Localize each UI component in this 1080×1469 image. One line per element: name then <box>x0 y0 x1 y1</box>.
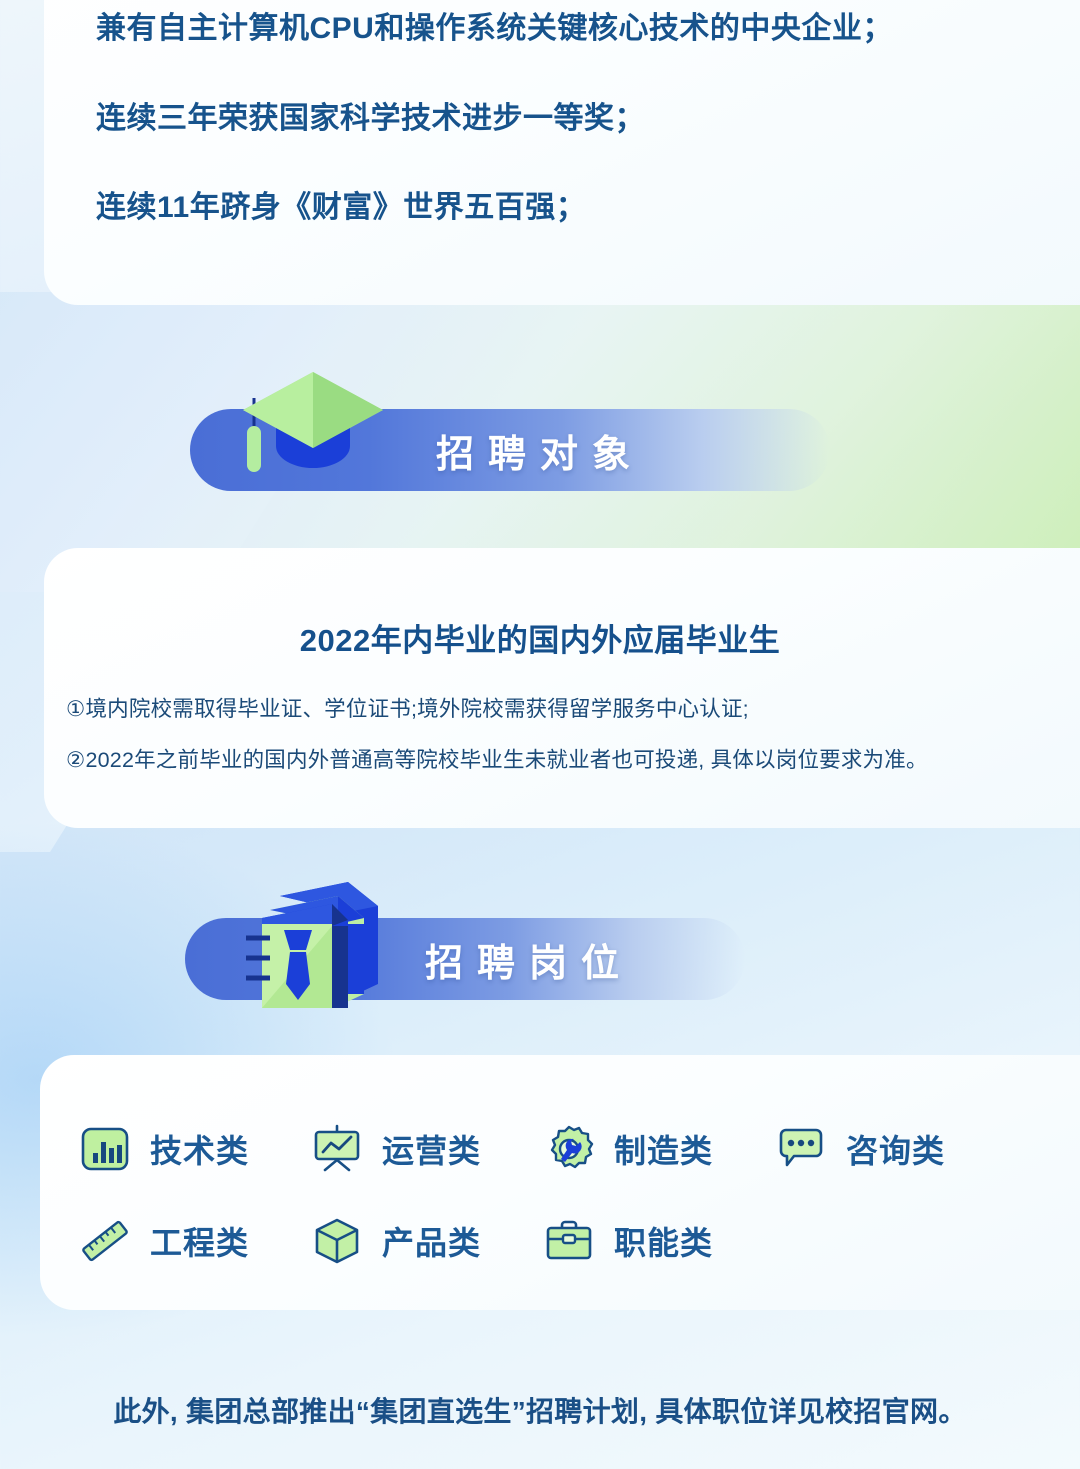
recruit-target-note: ①境内院校需取得毕业证、学位证书;境外院校需获得留学服务中心认证; <box>66 694 1026 724</box>
statement-line: 兼有自主计算机CPU和操作系统关键核心技术的中央企业； <box>96 10 1036 48</box>
job-category-label: 职能类 <box>614 1218 713 1264</box>
presentation-chart-icon <box>310 1122 364 1176</box>
job-category-functional[interactable]: 职能类 <box>542 1214 774 1268</box>
recruit-target-note: ②2022年之前毕业的国内外普通高等院校毕业生未就业者也可投递, 具体以岗位要求… <box>66 745 1026 775</box>
banner-title: 招聘岗位 <box>425 932 633 987</box>
speech-bubble-icon <box>774 1122 828 1176</box>
resume-books-icon <box>240 872 390 1012</box>
job-category-consulting[interactable]: 咨询类 <box>774 1122 1006 1176</box>
gear-wrench-icon <box>542 1122 596 1176</box>
job-category-label: 运营类 <box>382 1126 481 1172</box>
job-category-label: 技术类 <box>150 1126 249 1172</box>
job-category-grid: 技术类 运营类 制造类 <box>78 1122 1038 1268</box>
bar-chart-icon <box>78 1122 132 1176</box>
statement-line: 连续三年荣获国家科学技术进步一等奖； <box>96 100 1036 138</box>
company-statements: 兼有自主计算机CPU和操作系统关键核心技术的中央企业； 连续三年荣获国家科学技术… <box>96 10 1036 279</box>
recruit-position-footer-note: 此外, 集团总部推出“集团直选生”招聘计划, 具体职位详见校招官网。 <box>0 1390 1080 1430</box>
job-category-label: 制造类 <box>614 1126 713 1172</box>
job-category-manufacturing[interactable]: 制造类 <box>542 1122 774 1176</box>
job-category-label: 咨询类 <box>846 1126 945 1172</box>
ruler-icon <box>78 1214 132 1268</box>
job-category-product[interactable]: 产品类 <box>310 1214 542 1268</box>
statement-line: 连续11年跻身《财富》世界五百强； <box>96 189 1036 227</box>
graduation-cap-icon <box>232 368 392 488</box>
recruit-target-headline: 2022年内毕业的国内外应届毕业生 <box>0 615 1080 660</box>
job-category-engineering[interactable]: 工程类 <box>78 1214 310 1268</box>
toolbox-icon <box>542 1214 596 1268</box>
cube-box-icon <box>310 1214 364 1268</box>
job-category-technology[interactable]: 技术类 <box>78 1122 310 1176</box>
job-category-row: 工程类 产品类 职能类 <box>78 1214 1038 1268</box>
job-category-label: 工程类 <box>150 1218 249 1264</box>
job-category-operations[interactable]: 运营类 <box>310 1122 542 1176</box>
job-category-row: 技术类 运营类 制造类 <box>78 1122 1038 1176</box>
recruit-target-card <box>44 548 1080 828</box>
job-category-label: 产品类 <box>382 1218 481 1264</box>
banner-title: 招聘对象 <box>436 423 644 478</box>
